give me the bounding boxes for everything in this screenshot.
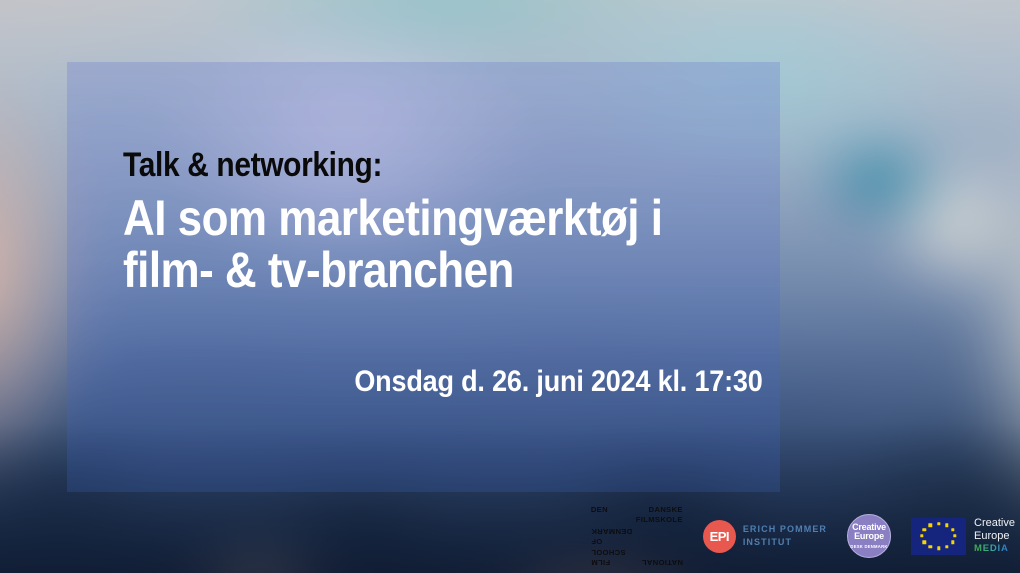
headline-line-2: film- & tv-branchen [123, 244, 686, 296]
eu-star-icon [953, 534, 956, 537]
creative-europe-media-logo: Creative Europe MEDIA [911, 517, 1015, 554]
epi-circle-mark: EPI [703, 520, 736, 553]
eu-star-icon [920, 534, 923, 537]
film-school-film: FILM [591, 557, 610, 567]
headline-line-1: AI som marketingværktøj i [123, 192, 686, 244]
erich-pommer-institut-logo: EPI ERICH POMMER INSTITUT [703, 520, 827, 553]
film-school-of: OF [591, 537, 683, 547]
eu-europe: Europe [974, 530, 1015, 542]
headline-text-block: Talk & networking: AI som marketingværkt… [123, 148, 763, 296]
den-danske-filmskole-logo: DEN DANSKE FILMSKOLE NATIONAL FILM SCHOO… [591, 505, 683, 568]
eu-star-icon [923, 541, 926, 544]
event-datetime-text: Onsdag d. 26. juni 2024 kl. 17:30 [355, 365, 763, 399]
epi-word-line-1: ERICH POMMER [743, 523, 827, 536]
creative-europe-media-wordmark: Creative Europe MEDIA [974, 517, 1015, 554]
sponsor-logo-bar: DEN DANSKE FILMSKOLE NATIONAL FILM SCHOO… [565, 505, 1015, 567]
european-union-flag-icon [911, 518, 966, 555]
eu-star-icon [929, 545, 932, 548]
event-promo-banner: Talk & networking: AI som marketingværkt… [0, 0, 1020, 573]
film-school-den: DEN [591, 505, 608, 515]
film-school-school: SCHOOL [591, 547, 683, 557]
epi-wordmark: ERICH POMMER INSTITUT [743, 523, 827, 549]
eu-star-icon [923, 528, 926, 531]
headline: AI som marketingværktøj i film- & tv-bra… [123, 192, 686, 296]
film-school-national: NATIONAL [641, 557, 682, 567]
film-school-english-name: NATIONAL FILM SCHOOL OF DENMARK [591, 526, 683, 567]
film-school-danske: DANSKE [649, 505, 683, 515]
film-school-denmark: DENMARK [591, 526, 683, 536]
eu-creative: Creative [974, 517, 1015, 529]
eu-media: MEDIA [974, 544, 1015, 555]
film-school-danish-name: DEN DANSKE FILMSKOLE [591, 505, 683, 526]
eu-star-icon [945, 524, 948, 527]
eu-star-icon [937, 522, 940, 525]
ced-europe: Europe [854, 532, 884, 541]
eu-star-icon [929, 524, 932, 527]
epi-word-line-2: INSTITUT [743, 536, 827, 549]
eu-star-icon [945, 545, 948, 548]
eu-star-icon [951, 528, 954, 531]
ced-desk-denmark: DESK DENMARK [850, 545, 887, 549]
eu-star-icon [937, 547, 940, 550]
film-school-filmskole: FILMSKOLE [591, 515, 683, 525]
kicker-label: Talk & networking: [123, 148, 686, 183]
eu-star-icon [951, 541, 954, 544]
event-datetime: Onsdag d. 26. juni 2024 kl. 17:30 [123, 365, 763, 399]
creative-europe-desk-denmark-logo: Creative Europe DESK DENMARK [847, 514, 891, 558]
